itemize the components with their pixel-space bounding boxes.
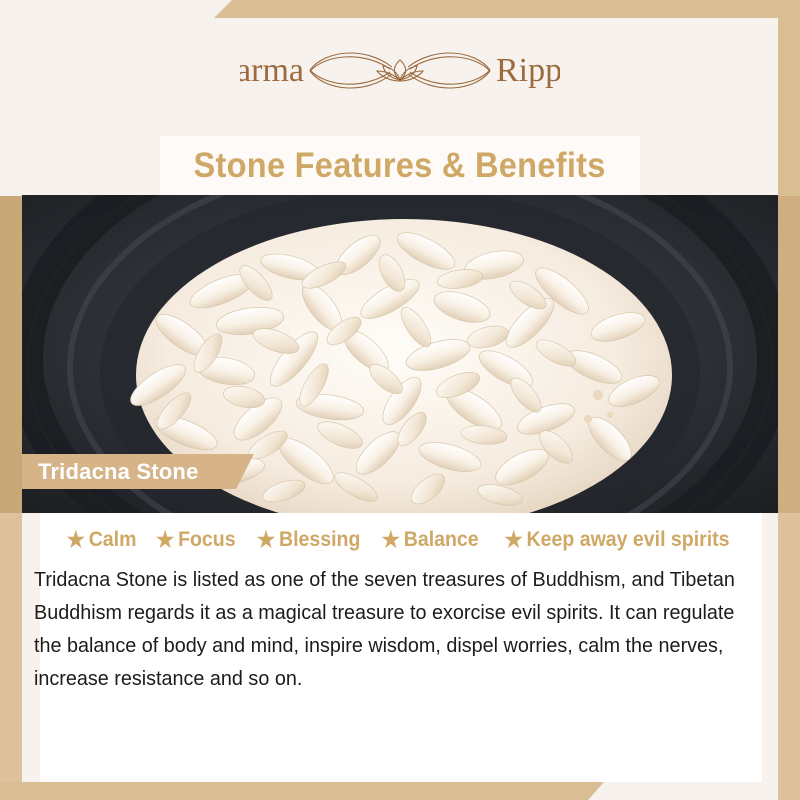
stone-name-label: Tridacna Stone xyxy=(38,459,199,485)
star-icon: ★ xyxy=(381,529,399,551)
star-icon: ★ xyxy=(156,529,174,551)
lotus-flourish-icon: Karma Ripple xyxy=(240,40,560,100)
frame-accent-bottom xyxy=(0,782,604,800)
feature-label: Calm xyxy=(89,528,137,552)
feature-item-balance: ★ Balance xyxy=(381,528,478,552)
frame-accent-right-upper xyxy=(778,0,800,196)
feature-item-focus: ★ Focus xyxy=(156,528,236,552)
feature-item-calm: ★ Calm xyxy=(67,528,137,552)
feature-label: Blessing xyxy=(279,528,360,552)
brand-logo[interactable]: Karma Ripple xyxy=(0,40,800,100)
frame-accent-top xyxy=(214,0,800,18)
frame-accent-right-lower xyxy=(778,513,800,800)
star-icon: ★ xyxy=(256,529,274,551)
product-infographic-page: Karma Ripple Stone Features & Benefits xyxy=(0,0,800,800)
feature-item-blessing: ★ Blessing xyxy=(256,528,359,552)
brand-name-right: Ripple xyxy=(496,52,560,89)
feature-list: ★ Calm ★ Focus ★ Blessing ★ Balance ★ Ke… xyxy=(40,528,762,552)
page-title: Stone Features & Benefits xyxy=(194,146,606,186)
feature-label: Balance xyxy=(404,528,479,552)
stone-description: Tridacna Stone is listed as one of the s… xyxy=(34,563,748,695)
feature-label: Focus xyxy=(178,528,236,552)
section-title-band: Stone Features & Benefits xyxy=(160,136,640,195)
benefits-card: ★ Calm ★ Focus ★ Blessing ★ Balance ★ Ke… xyxy=(40,513,762,782)
stone-name-banner: Tridacna Stone xyxy=(22,454,254,489)
star-icon: ★ xyxy=(505,529,523,551)
frame-accent-left-lower xyxy=(0,513,22,800)
brand-name-left: Karma xyxy=(240,52,304,89)
feature-item-keep-away-evil-spirits: ★ Keep away evil spirits xyxy=(505,528,730,552)
page-header: Karma Ripple xyxy=(0,0,800,136)
feature-label: Keep away evil spirits xyxy=(527,528,730,552)
star-icon: ★ xyxy=(67,529,85,551)
